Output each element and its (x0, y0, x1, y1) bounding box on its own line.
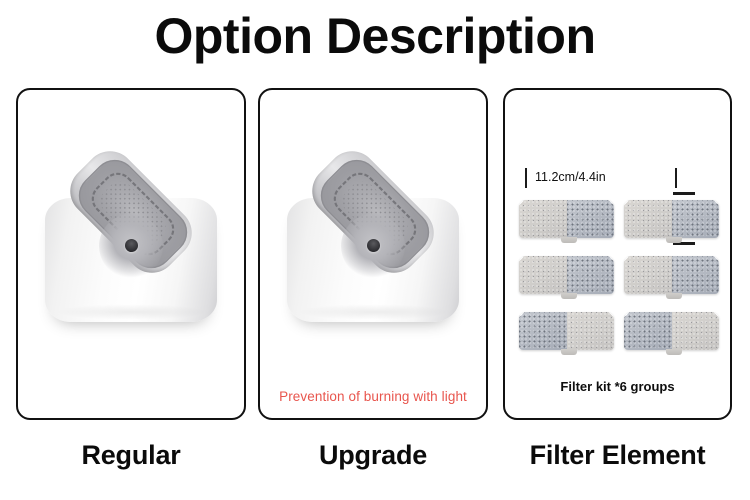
filter-cartridge-icon (624, 312, 719, 354)
filter-cartridge-icon (519, 200, 614, 242)
panel-captions: Regular Upgrade Filter Element (0, 440, 750, 490)
option-panel-upgrade[interactable]: Prevention of burning with light (258, 88, 488, 420)
filter-half-left (519, 200, 567, 238)
caption-regular: Regular (16, 440, 246, 471)
filter-half-right (567, 200, 615, 238)
filter-width-label: 11.2cm/4.4in (535, 170, 606, 184)
pet-water-fountain-icon (33, 146, 229, 346)
fountain-spout-hole (125, 239, 138, 252)
filter-half-left (624, 256, 672, 294)
option-panel-regular[interactable] (16, 88, 246, 420)
width-tick-right (675, 168, 677, 188)
fountain-spout-hole (367, 239, 380, 252)
option-panel-filter-element[interactable]: 11.2cm/4.4in 4.3 cm /1.7in (503, 88, 732, 420)
filter-tab (561, 293, 577, 299)
pet-water-fountain-icon (275, 146, 471, 346)
filter-half-left (519, 256, 567, 294)
filter-cartridge-icon (519, 256, 614, 298)
width-tick-left (525, 168, 527, 188)
filter-tab (561, 237, 577, 243)
filter-half-right (672, 312, 720, 350)
filter-tab (666, 349, 682, 355)
filter-half-right (567, 312, 615, 350)
caption-upgrade: Upgrade (258, 440, 488, 471)
filter-cartridge-icon (624, 200, 719, 242)
filter-half-left (519, 312, 567, 350)
height-tick-top (673, 192, 695, 195)
filter-cartridge-grid (519, 200, 719, 354)
filter-half-left (624, 312, 672, 350)
filter-tab (666, 237, 682, 243)
filter-half-right (672, 200, 720, 238)
filter-cartridge-icon (624, 256, 719, 298)
filter-half-right (672, 256, 720, 294)
filter-width-dimension: 11.2cm/4.4in (525, 168, 685, 190)
filter-cartridge-icon (519, 312, 614, 354)
filter-tab (561, 349, 577, 355)
page-title: Option Description (0, 6, 750, 66)
filter-half-right (567, 256, 615, 294)
upgrade-note: Prevention of burning with light (260, 389, 486, 404)
filter-kit-caption: Filter kit *6 groups (505, 379, 730, 394)
filter-half-left (624, 200, 672, 238)
option-panels: Prevention of burning with light 11.2cm/… (0, 88, 750, 428)
caption-filter-element: Filter Element (503, 440, 732, 471)
filter-tab (666, 293, 682, 299)
